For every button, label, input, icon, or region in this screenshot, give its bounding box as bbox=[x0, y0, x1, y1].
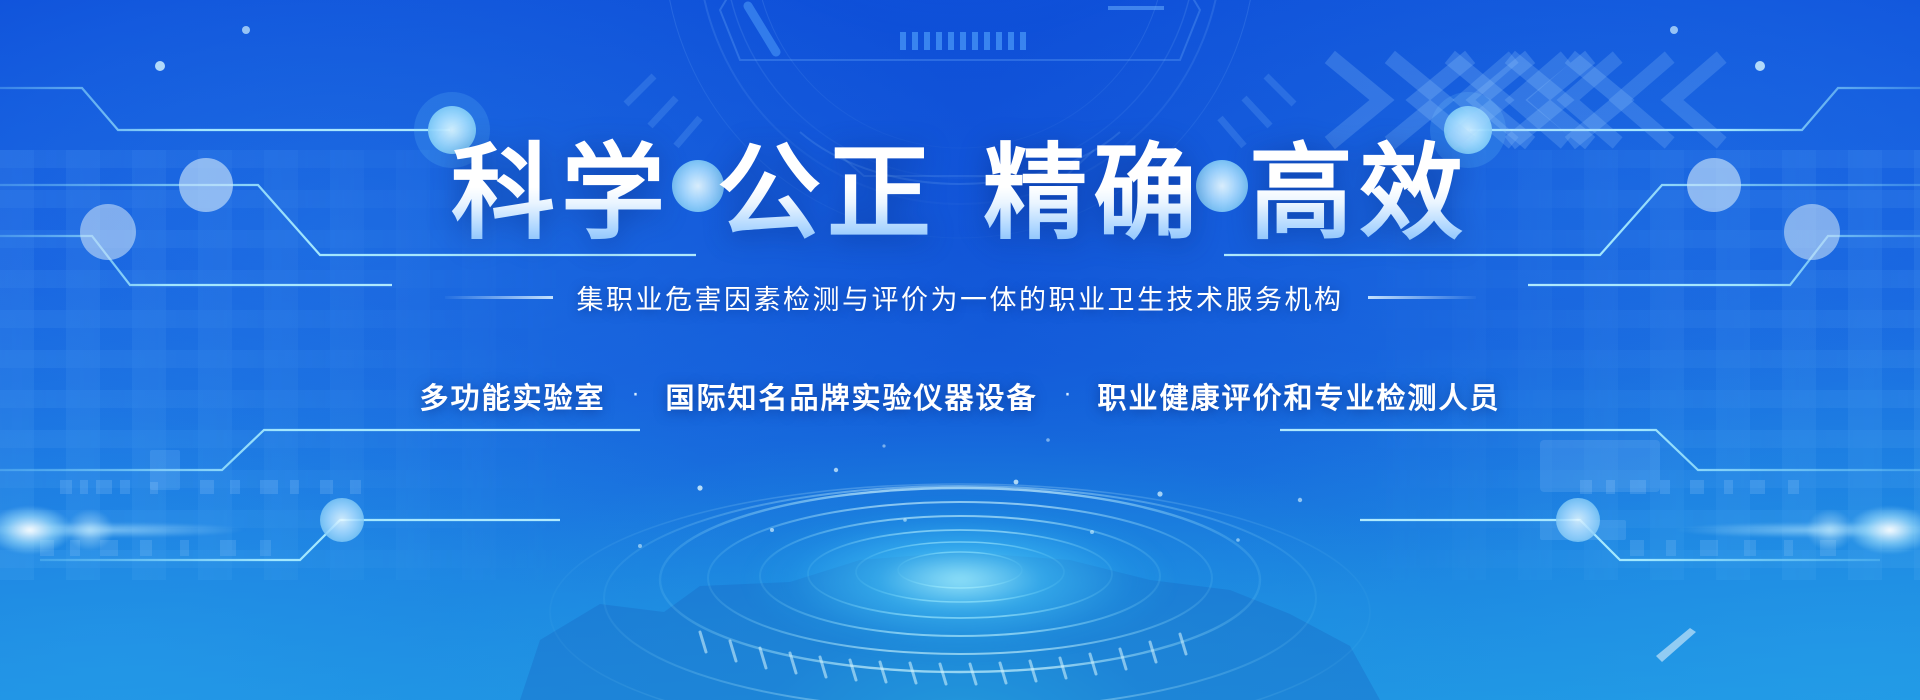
title-word-4: 高效 bbox=[1249, 138, 1469, 250]
title-word-2: 公正 bbox=[717, 138, 937, 250]
feature-list: 多功能实验室 · 国际知名品牌实验仪器设备 · 职业健康评价和专业检测人员 bbox=[419, 375, 1500, 417]
feature-item-1: 多功能实验室 bbox=[419, 375, 605, 417]
subtitle-rule-right bbox=[1368, 296, 1476, 299]
title-word-1: 科学 bbox=[451, 138, 671, 250]
subtitle-rule-left bbox=[445, 296, 553, 299]
hero-banner: 科学 公正 精确 高效 集职业危害因素检测与评价为一体的职业卫生技术服务机构 多… bbox=[0, 0, 1920, 700]
feature-item-2: 国际知名品牌实验仪器设备 bbox=[665, 375, 1037, 417]
subtitle: 集职业危害因素检测与评价为一体的职业卫生技术服务机构 bbox=[445, 278, 1476, 317]
banner-content: 科学 公正 精确 高效 集职业危害因素检测与评价为一体的职业卫生技术服务机构 多… bbox=[0, 0, 1920, 700]
feature-separator-dot-2: · bbox=[1064, 382, 1072, 406]
subtitle-text: 集职业危害因素检测与评价为一体的职业卫生技术服务机构 bbox=[577, 278, 1344, 317]
title-word-3: 精确 bbox=[983, 138, 1203, 250]
main-title: 科学 公正 精确 高效 bbox=[451, 138, 1469, 250]
feature-item-3: 职业健康评价和专业检测人员 bbox=[1098, 375, 1501, 417]
feature-separator-dot-1: · bbox=[631, 382, 639, 406]
